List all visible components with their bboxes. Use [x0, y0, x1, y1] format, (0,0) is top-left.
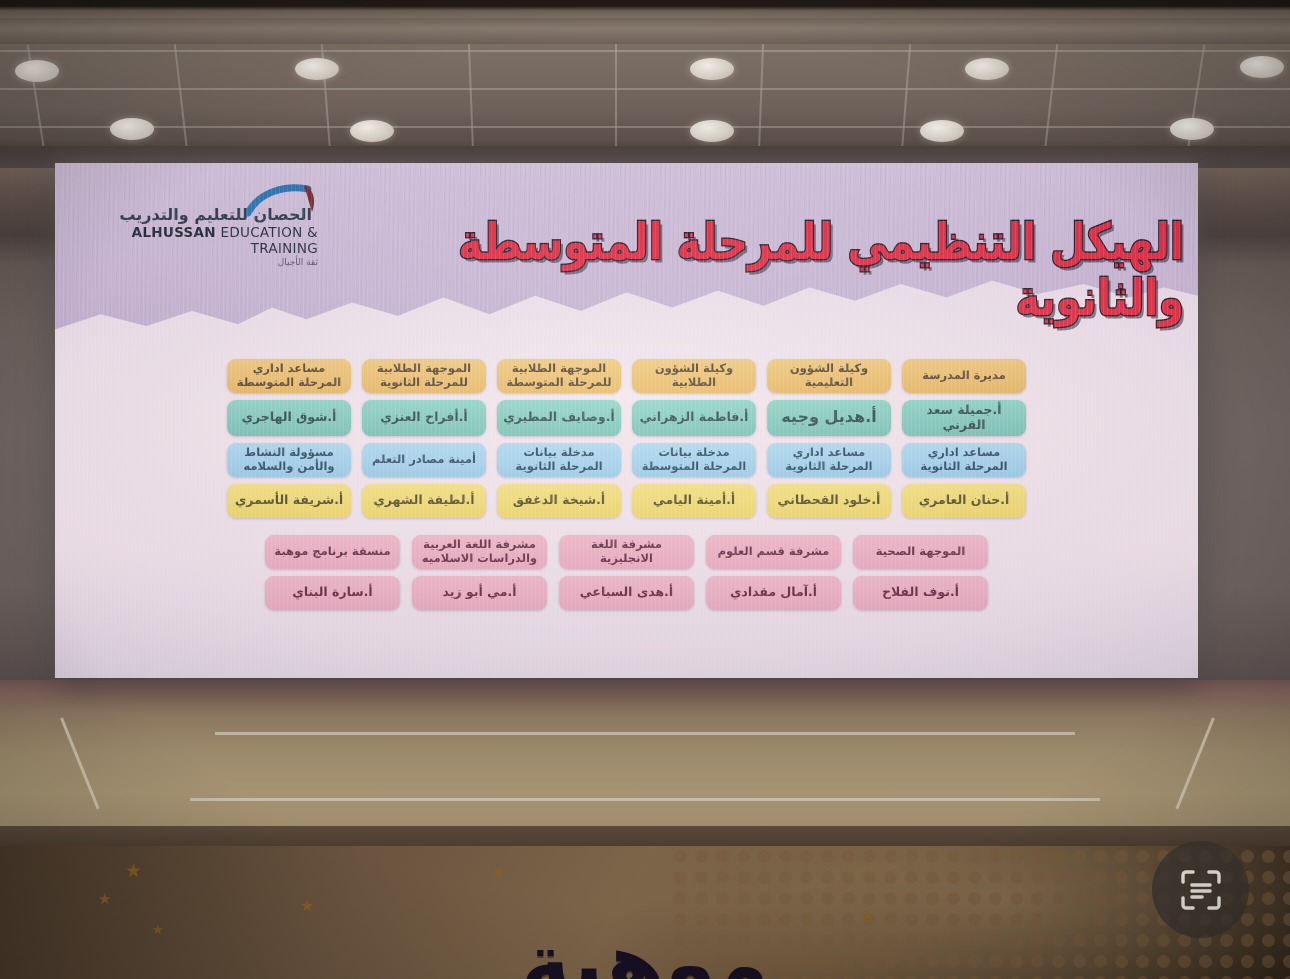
- chip-label: وكيلة الشؤون التعليمية: [772, 362, 886, 389]
- scan-text-button[interactable]: [1152, 841, 1249, 938]
- staff-name-chip: أ.فاطمة الزهراني: [632, 400, 756, 436]
- staff-name-chip: أ.نوف الفلاح: [853, 576, 988, 610]
- chip-label: الموجهة الطلابية للمرحلة الثانوية: [367, 362, 481, 389]
- chip-label: مسؤولة النشاط والأمن والسلامه: [232, 446, 346, 473]
- role-chip: مشرفة قسم العلوم: [706, 535, 841, 569]
- stage-diagonal-right: [1175, 717, 1214, 809]
- chip-label: أ.نوف الفلاح: [858, 585, 983, 600]
- role-chip: مشرفة اللغة الانجليزية: [559, 535, 694, 569]
- chip-label: أ.آمال مقدادي: [711, 585, 836, 600]
- staff-name-chip: أ.آمال مقدادي: [706, 576, 841, 610]
- role-chip: مدخلة بيانات المرحلة الثانوية: [497, 443, 621, 477]
- staff-name-chip: أ.شوق الهاجري: [227, 400, 351, 436]
- banner-headline: موهبة: [0, 915, 1290, 979]
- chip-label: مساعد اداري المرحلة المتوسطة: [232, 362, 346, 389]
- ceiling-light: [15, 60, 59, 82]
- role-chip: الموجهة الصحية: [853, 535, 988, 569]
- chip-label: مساعد اداري المرحلة الثانوية: [907, 446, 1021, 473]
- staff-name-chip: أ.حنان العامري: [902, 484, 1026, 518]
- role-chip: مسؤولة النشاط والأمن والسلامه: [227, 443, 351, 477]
- ceiling-light: [350, 120, 394, 142]
- stage-floor: [0, 680, 1290, 840]
- star-icon: ★: [98, 892, 111, 907]
- staff-name-chip: أ.وصايف المطيري: [497, 400, 621, 436]
- staff-name-chip: أ.أفراح العنزي: [362, 400, 486, 436]
- chip-label: أ.شيخة الدغفق: [502, 493, 616, 508]
- stage-diagonal-left: [60, 717, 99, 809]
- chip-label: أ.خلود القحطاني: [772, 493, 886, 508]
- chip-label: مديرة المدرسة: [907, 369, 1021, 383]
- role-chip: الموجهة الطلابية للمرحلة المتوسطة: [497, 359, 621, 393]
- bottom-banner: ★ ★ ★ ★ ★ ★ موهبة: [0, 846, 1290, 979]
- chip-label: أ.وصايف المطيري: [502, 410, 616, 425]
- chip-label: مدخلة بيانات المرحلة المتوسطة: [637, 446, 751, 473]
- ceiling-light: [920, 120, 964, 142]
- chip-label: وكيلة الشؤون الطلابية: [637, 362, 751, 389]
- chip-label: أ.أمينة اليامي: [637, 493, 751, 508]
- staff-name-chip: أ.هدى السباعي: [559, 576, 694, 610]
- chip-label: منسقة برنامج موهبة: [270, 545, 395, 559]
- chip-label: أ.لطيفة الشهري: [367, 493, 481, 508]
- ceiling-light: [690, 58, 734, 80]
- ceiling-light: [110, 118, 154, 140]
- ceiling-light: [295, 58, 339, 80]
- role-chip: مساعد اداري المرحلة الثانوية: [767, 443, 891, 477]
- chip-label: أ.شريفة الأسمري: [232, 493, 346, 508]
- chart-row-names-top: أ.جميلة سعد القرنيأ.هديل وجيهأ.فاطمة الز…: [155, 400, 1098, 436]
- chip-label: مشرفة قسم العلوم: [711, 545, 836, 559]
- star-icon: ★: [125, 862, 142, 881]
- role-chip: مديرة المدرسة: [902, 359, 1026, 393]
- chip-label: أ.أفراح العنزي: [367, 410, 481, 425]
- chip-label: أ.هدى السباعي: [564, 585, 689, 600]
- chart-row-names-mid: أ.حنان العامريأ.خلود القحطانيأ.أمينة الي…: [155, 484, 1098, 518]
- chart-row-roles-top: مديرة المدرسةوكيلة الشؤون التعليميةوكيلة…: [155, 359, 1098, 393]
- ceiling-light: [1240, 56, 1284, 78]
- chip-label: مشرفة اللغة الانجليزية: [564, 538, 689, 565]
- staff-name-chip: أ.شريفة الأسمري: [227, 484, 351, 518]
- room-scene: ★ ★ ★ ★ ★ ★ موهبة الحصان للتعليم والتدري…: [0, 0, 1290, 979]
- chip-label: الموجهة الصحية: [858, 545, 983, 559]
- projection-screen: الحصان للتعليم والتدريب ALHUSSAN EDUCATI…: [55, 163, 1198, 678]
- document-scan-icon: [1178, 867, 1224, 913]
- chip-label: أ.هديل وجيه: [772, 408, 886, 427]
- ceiling-light: [965, 58, 1009, 80]
- ceiling-light: [690, 120, 734, 142]
- role-chip: أمينة مصادر التعلم: [362, 443, 486, 477]
- page-title: الهيكل التنظيمي للمرحلة المتوسطة والثانو…: [284, 215, 1184, 327]
- chart-section-gap: [155, 525, 1098, 535]
- chart-row-names-bottom: أ.نوف الفلاحأ.آمال مقداديأ.هدى السباعيأ.…: [155, 576, 1098, 610]
- staff-name-chip: أ.مي أبو زيد: [412, 576, 547, 610]
- star-icon: ★: [492, 866, 505, 880]
- staff-name-chip: أ.خلود القحطاني: [767, 484, 891, 518]
- chip-label: أ.جميلة سعد القرني: [907, 403, 1021, 433]
- chip-label: الموجهة الطلابية للمرحلة المتوسطة: [502, 362, 616, 389]
- chip-label: أ.شوق الهاجري: [232, 410, 346, 425]
- chip-label: أ.حنان العامري: [907, 493, 1021, 508]
- chip-label: أ.فاطمة الزهراني: [637, 410, 751, 425]
- chip-label: أ.مي أبو زيد: [417, 585, 542, 600]
- org-chart: مديرة المدرسةوكيلة الشؤون التعليميةوكيلة…: [55, 359, 1198, 617]
- chip-label: مشرفة اللغة العربية والدراسات الاسلاميه: [417, 538, 542, 565]
- role-chip: مساعد اداري المرحلة الثانوية: [902, 443, 1026, 477]
- chip-label: أمينة مصادر التعلم: [367, 453, 481, 467]
- staff-name-chip: أ.لطيفة الشهري: [362, 484, 486, 518]
- role-chip: مشرفة اللغة العربية والدراسات الاسلاميه: [412, 535, 547, 569]
- role-chip: وكيلة الشؤون التعليمية: [767, 359, 891, 393]
- logo-swoosh-icon: [246, 183, 326, 217]
- stage-line-front: [190, 798, 1100, 801]
- ceiling-grid-lines: [0, 0, 1290, 152]
- logo-english-bold: ALHUSSAN: [132, 225, 216, 241]
- star-icon: ★: [300, 898, 314, 914]
- staff-name-chip: أ.شيخة الدغفق: [497, 484, 621, 518]
- staff-name-chip: أ.جميلة سعد القرني: [902, 400, 1026, 436]
- ceiling-light: [1170, 118, 1214, 140]
- role-chip: مساعد اداري المرحلة المتوسطة: [227, 359, 351, 393]
- role-chip: منسقة برنامج موهبة: [265, 535, 400, 569]
- chip-label: أ.سارة البناي: [270, 585, 395, 600]
- chart-row-roles-mid: مساعد اداري المرحلة الثانويةمساعد اداري …: [155, 443, 1098, 477]
- ceiling-tiles: [0, 0, 1290, 152]
- chip-label: مساعد اداري المرحلة الثانوية: [772, 446, 886, 473]
- staff-name-chip: أ.أمينة اليامي: [632, 484, 756, 518]
- role-chip: مدخلة بيانات المرحلة المتوسطة: [632, 443, 756, 477]
- stage-line-back: [215, 732, 1075, 735]
- chart-row-roles-bottom: الموجهة الصحيةمشرفة قسم العلوممشرفة اللغ…: [155, 535, 1098, 569]
- role-chip: الموجهة الطلابية للمرحلة الثانوية: [362, 359, 486, 393]
- staff-name-chip: أ.سارة البناي: [265, 576, 400, 610]
- chip-label: مدخلة بيانات المرحلة الثانوية: [502, 446, 616, 473]
- role-chip: وكيلة الشؤون الطلابية: [632, 359, 756, 393]
- staff-name-chip: أ.هديل وجيه: [767, 400, 891, 436]
